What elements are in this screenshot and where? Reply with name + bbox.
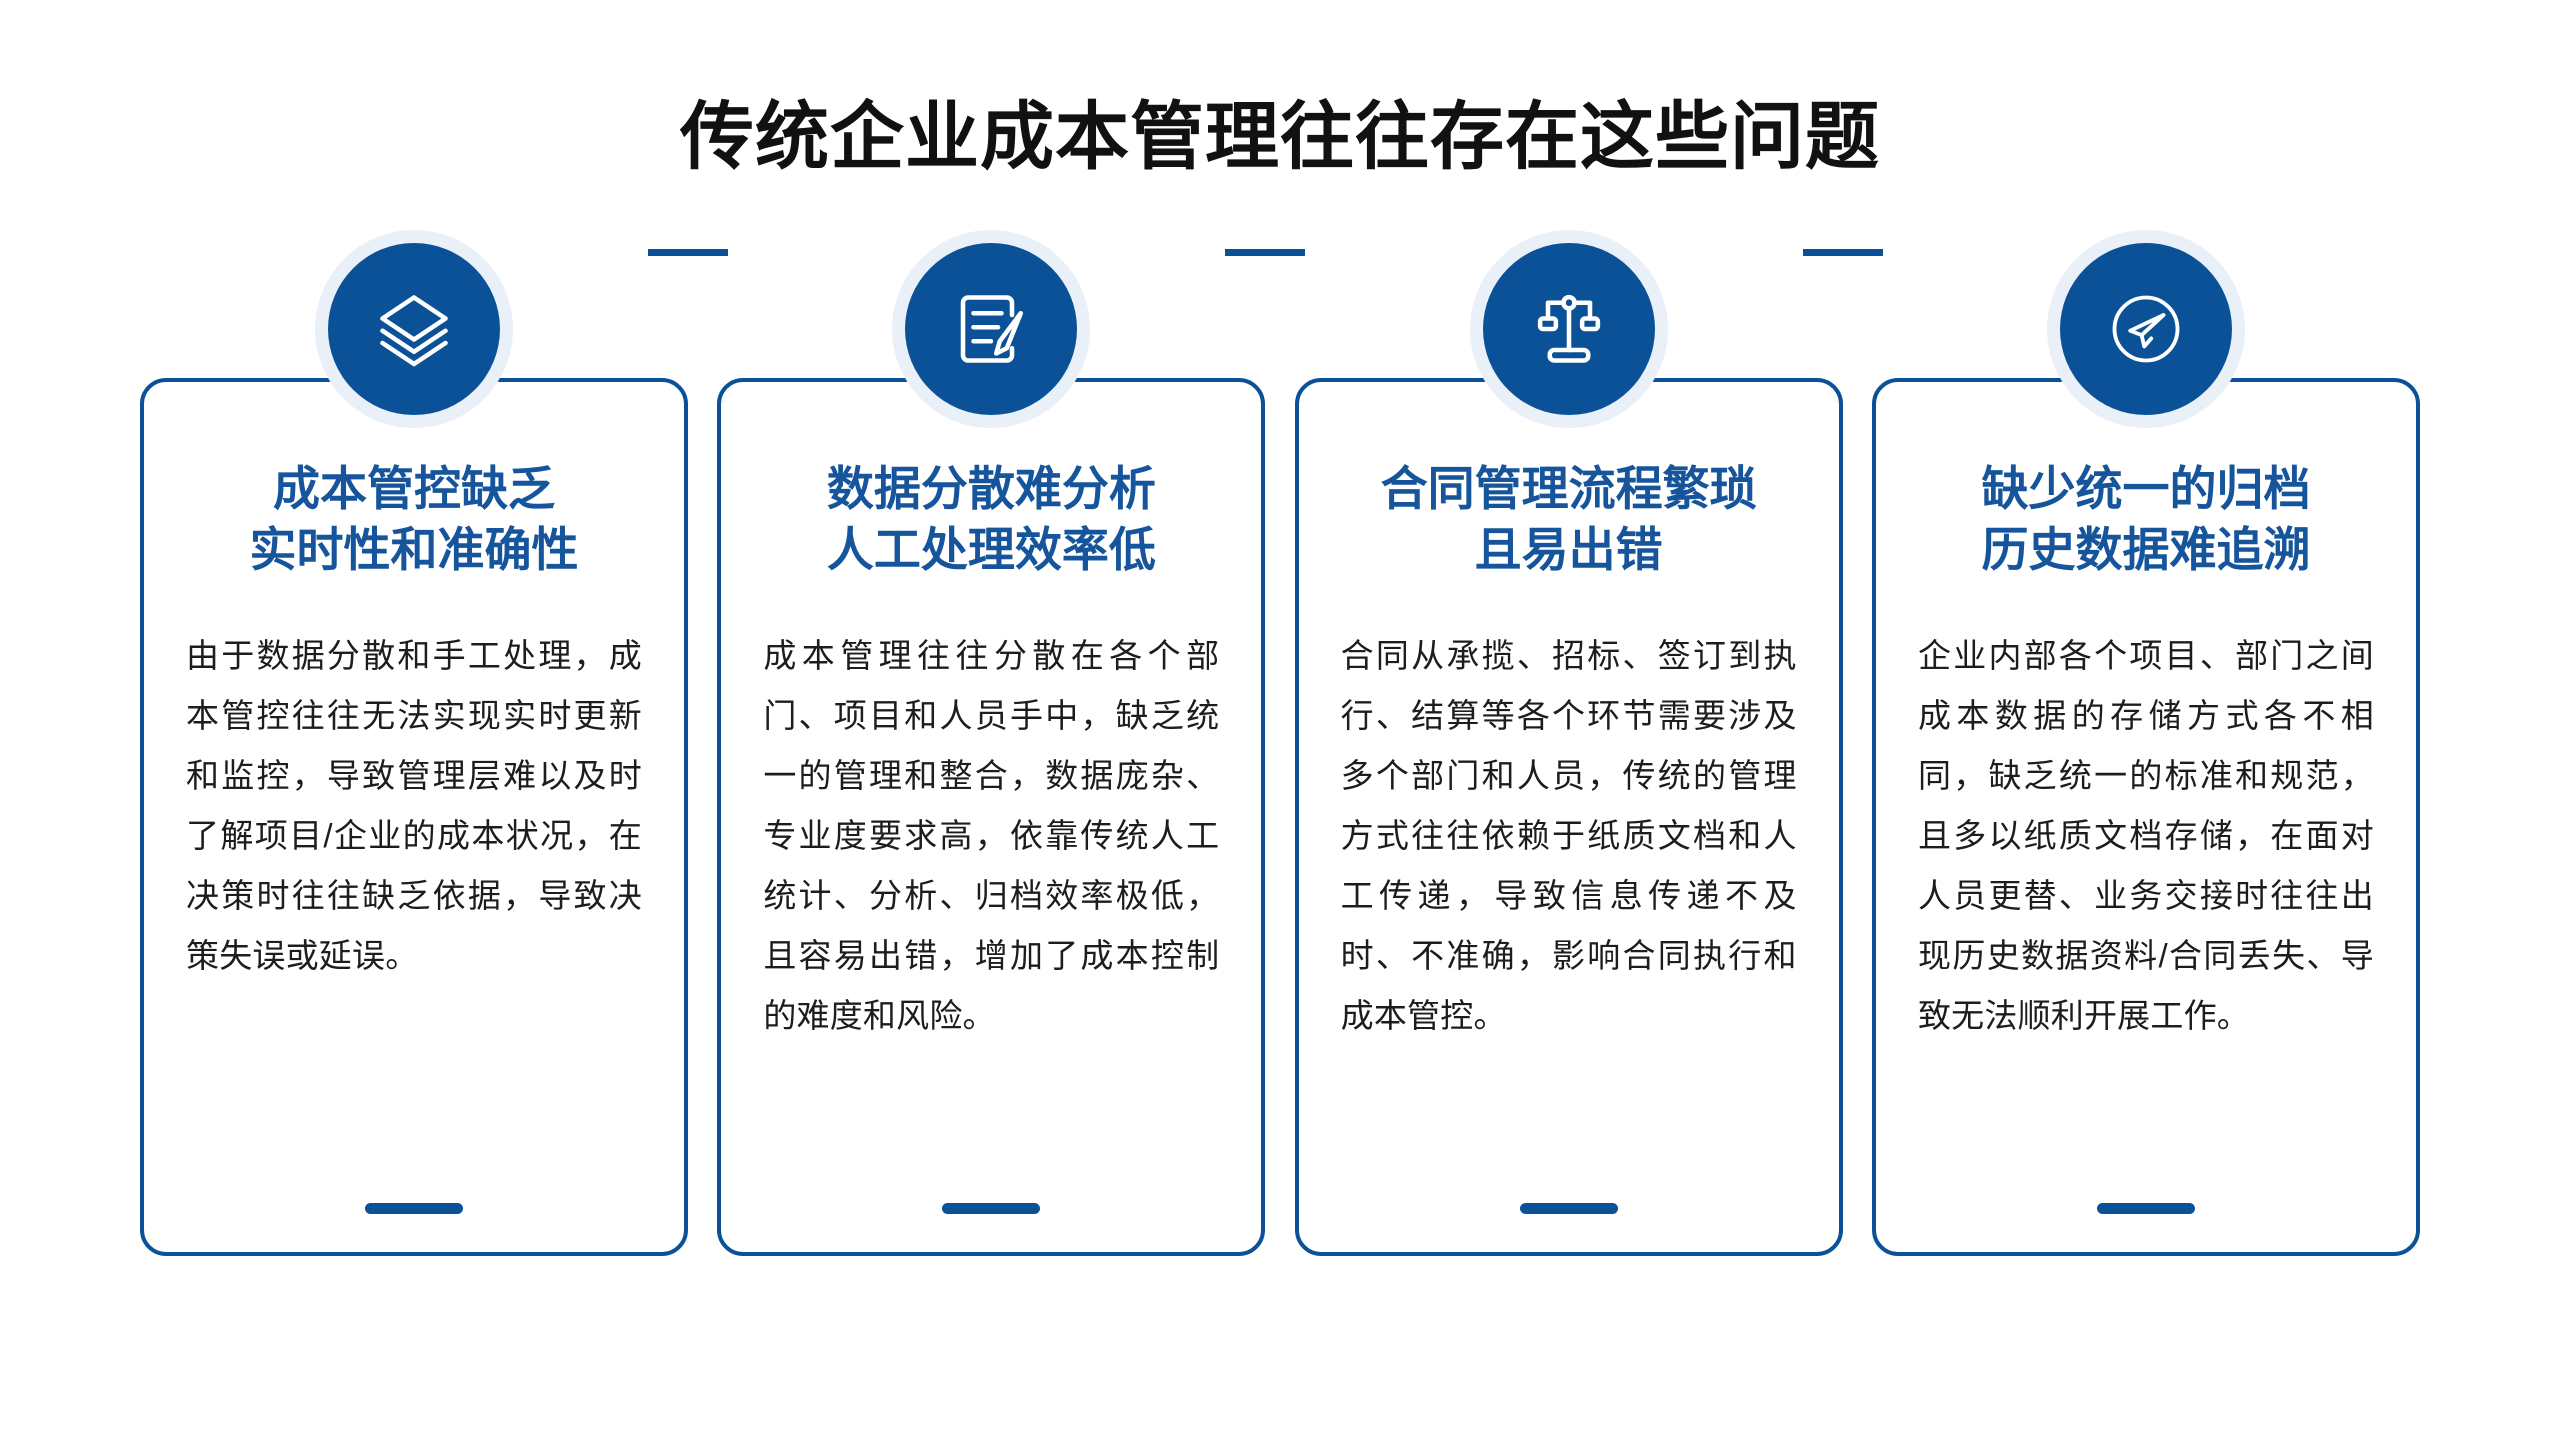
- card-icon-bubble-1: [315, 230, 513, 428]
- slide-root: 传统企业成本管理往往存在这些问题 成本管控缺乏 实时性和准: [0, 0, 2560, 1440]
- card-text-3: 合同从承揽、招标、签订到执行、结算等各个环节需要涉及多个部门和人员，传统的管理方…: [1341, 626, 1797, 1046]
- card-heading-3: 合同管理流程繁琐 且易出错: [1341, 458, 1797, 580]
- card-bottom-dash-2: [942, 1203, 1040, 1214]
- card-heading-2: 数据分散难分析 人工处理效率低: [763, 458, 1219, 580]
- card-connector-line-3: [1803, 249, 1883, 256]
- card-icon-circle-1: [328, 243, 500, 415]
- layers-stack-icon: [372, 287, 456, 371]
- document-edit-icon: [949, 287, 1033, 371]
- card-content-1: 成本管控缺乏 实时性和准确性 由于数据分散和手工处理，成本管控往往无法实现实时更…: [140, 378, 688, 1256]
- paper-plane-send-icon: [2104, 287, 2188, 371]
- page-title: 传统企业成本管理往往存在这些问题: [0, 96, 2560, 179]
- problem-card-2[interactable]: 数据分散难分析 人工处理效率低 成本管理往往分散在各个部门、项目和人员手中，缺乏…: [717, 378, 1265, 1256]
- card-content-2: 数据分散难分析 人工处理效率低 成本管理往往分散在各个部门、项目和人员手中，缺乏…: [717, 378, 1265, 1256]
- card-heading-4: 缺少统一的归档 历史数据难追溯: [1918, 458, 2374, 580]
- problem-card-1[interactable]: 成本管控缺乏 实时性和准确性 由于数据分散和手工处理，成本管控往往无法实现实时更…: [140, 378, 688, 1256]
- card-bottom-dash-3: [1520, 1203, 1618, 1214]
- problem-card-3[interactable]: 合同管理流程繁琐 且易出错 合同从承揽、招标、签订到执行、结算等各个环节需要涉及…: [1295, 378, 1843, 1256]
- balance-scales-icon: [1527, 287, 1611, 371]
- card-content-4: 缺少统一的归档 历史数据难追溯 企业内部各个项目、部门之间成本数据的存储方式各不…: [1872, 378, 2420, 1256]
- card-content-3: 合同管理流程繁琐 且易出错 合同从承揽、招标、签订到执行、结算等各个环节需要涉及…: [1295, 378, 1843, 1256]
- card-text-1: 由于数据分散和手工处理，成本管控往往无法实现实时更新和监控，导致管理层难以及时了…: [186, 626, 642, 986]
- card-text-4: 企业内部各个项目、部门之间成本数据的存储方式各不相同，缺乏统一的标准和规范，且多…: [1918, 626, 2374, 1046]
- card-bottom-dash-1: [365, 1203, 463, 1214]
- card-icon-bubble-2: [892, 230, 1090, 428]
- card-icon-bubble-3: [1470, 230, 1668, 428]
- card-icon-bubble-4: [2047, 230, 2245, 428]
- card-connector-line-2: [1225, 249, 1305, 256]
- cards-row: 成本管控缺乏 实时性和准确性 由于数据分散和手工处理，成本管控往往无法实现实时更…: [140, 378, 2420, 1258]
- card-icon-circle-3: [1483, 243, 1655, 415]
- card-icon-circle-2: [905, 243, 1077, 415]
- card-connector-line-1: [648, 249, 728, 256]
- card-heading-1: 成本管控缺乏 实时性和准确性: [186, 458, 642, 580]
- card-bottom-dash-4: [2097, 1203, 2195, 1214]
- problem-card-4[interactable]: 缺少统一的归档 历史数据难追溯 企业内部各个项目、部门之间成本数据的存储方式各不…: [1872, 378, 2420, 1256]
- card-icon-circle-4: [2060, 243, 2232, 415]
- card-text-2: 成本管理往往分散在各个部门、项目和人员手中，缺乏统一的管理和整合，数据庞杂、专业…: [763, 626, 1219, 1046]
